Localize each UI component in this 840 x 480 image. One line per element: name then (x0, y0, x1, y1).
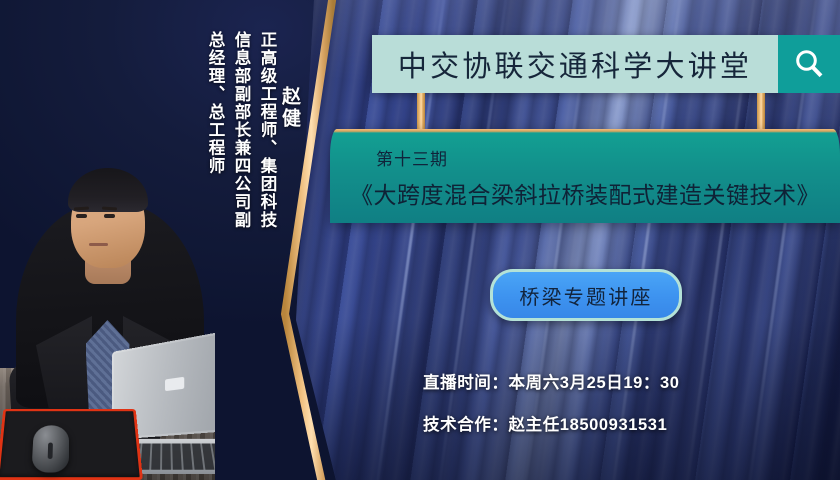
program-title: 《大跨度混合梁斜拉桥装配式建造关键技术》 (350, 176, 820, 210)
search-button[interactable] (778, 35, 840, 93)
title-banner-body: 中交协联交通科学大讲堂 (372, 35, 778, 93)
broadcast-time-text: 直播时间：本周六3月25日19：30 (423, 369, 680, 393)
contact-text: 技术合作：赵主任18500931531 (423, 411, 667, 435)
speaker-title-line-2: 信息部副部长兼四公司副 (233, 31, 250, 229)
search-icon (792, 47, 826, 81)
gold-connector-left (417, 93, 425, 133)
issue-number: 第十三期 (376, 145, 448, 170)
speaker-title-line-3: 总经理、总工程师 (207, 31, 224, 175)
speaker-name: 赵健 (280, 86, 299, 130)
banner-title-text: 中交协联交通科学大讲堂 (398, 43, 752, 85)
promo-poster: 赵健 正高级工程师、集团科技 信息部副部长兼四公司副 总经理、总工程师 中交协联… (0, 0, 840, 480)
title-banner: 中交协联交通科学大讲堂 (372, 35, 840, 93)
speaker-title-line-1: 正高级工程师、集团科技 (259, 31, 276, 229)
gold-connector-right (757, 93, 765, 133)
subtitle-panel: 第十三期 《大跨度混合梁斜拉桥装配式建造关键技术》 (330, 129, 840, 223)
topic-pill-button[interactable]: 桥梁专题讲座 (490, 269, 682, 321)
presenter-photo (0, 135, 215, 480)
topic-pill-label: 桥梁专题讲座 (519, 281, 652, 310)
